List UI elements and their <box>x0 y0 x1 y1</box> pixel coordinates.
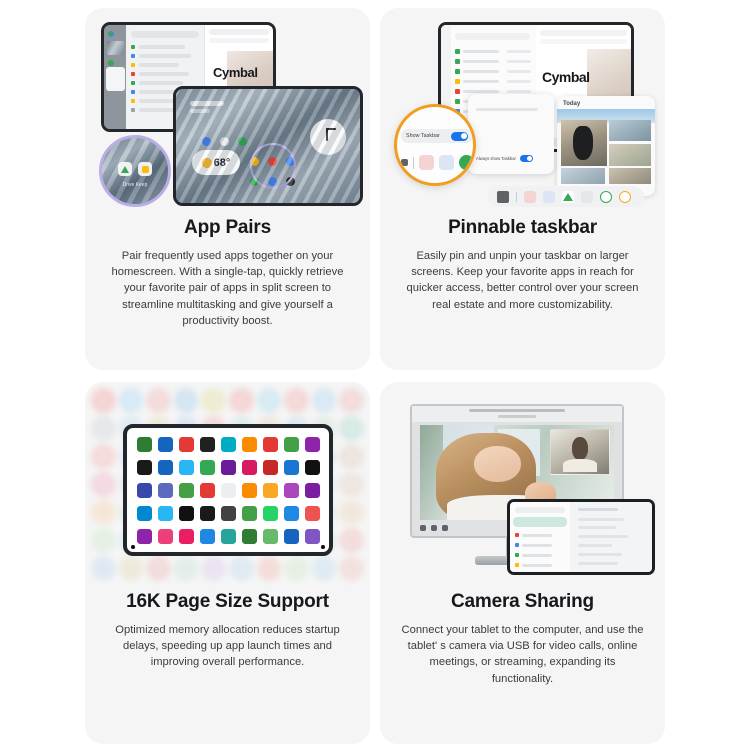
page-size-text: 16K Page Size Support Optimized memory a… <box>85 587 370 681</box>
clock-widget-line <box>190 101 224 106</box>
camera-icon[interactable] <box>431 525 437 531</box>
app-pair-label: Drive Keep <box>102 182 168 188</box>
blurred-app-icon <box>312 388 337 413</box>
app-icon[interactable] <box>137 506 152 521</box>
app-pairs-text: App Pairs Pair frequently used apps toge… <box>85 213 370 339</box>
blurred-app-icon <box>146 388 171 413</box>
photo-dog <box>561 120 607 166</box>
blurred-app-icon <box>146 556 171 581</box>
app-icon[interactable] <box>305 437 320 452</box>
app-icon[interactable] <box>137 483 152 498</box>
feature-card-camera-sharing[interactable]: Camera Sharing Connect your tablet to th… <box>380 382 665 744</box>
app-icon[interactable] <box>284 437 299 452</box>
photo-thumbnail <box>561 168 605 184</box>
app-icon[interactable] <box>179 437 194 452</box>
app-icon[interactable] <box>200 529 215 544</box>
photo-thumbnail <box>609 144 651 166</box>
blurred-app-icon <box>339 556 364 581</box>
feature-card-pinnable-taskbar[interactable]: Cymbal Today Always show Taskb <box>380 8 665 370</box>
app-icon[interactable] <box>242 506 257 521</box>
app-icon[interactable] <box>284 529 299 544</box>
window-titlebar <box>412 406 622 422</box>
tablet-settings <box>507 499 655 575</box>
blurred-app-icon <box>201 556 226 581</box>
document-brand-name: Cymbal <box>542 69 590 85</box>
app-icon[interactable] <box>250 177 259 186</box>
app-icon[interactable] <box>238 137 247 146</box>
app-icon[interactable] <box>543 191 555 203</box>
app-icon[interactable] <box>221 506 236 521</box>
pinned-taskbar[interactable] <box>488 186 644 207</box>
card-body: Optimized memory allocation reduces star… <box>103 622 352 671</box>
app-icon[interactable] <box>305 529 320 544</box>
blurred-app-icon <box>201 388 226 413</box>
all-apps-icon[interactable] <box>497 191 509 203</box>
blurred-app-icon <box>339 416 364 441</box>
camera-icon <box>321 545 325 549</box>
blurred-app-icon <box>229 388 254 413</box>
drive-icon <box>118 162 132 176</box>
weather-temperature: 68° <box>214 157 231 169</box>
photo-thumbnail <box>609 120 651 141</box>
blurred-app-icon <box>91 556 116 581</box>
app-pairs-illustration: Cymbal <box>85 8 370 213</box>
card-title: 16K Page Size Support <box>103 591 352 613</box>
keep-icon <box>138 162 152 176</box>
app-icon[interactable] <box>524 191 536 203</box>
app-icon[interactable] <box>419 155 434 170</box>
app-icon[interactable] <box>202 137 211 146</box>
app-icon[interactable] <box>179 483 194 498</box>
sheet-question-text <box>476 108 538 111</box>
page-size-illustration <box>85 382 370 587</box>
card-title: Pinnable taskbar <box>398 217 647 239</box>
blurred-app-icon <box>91 528 116 553</box>
app-icon[interactable] <box>242 483 257 498</box>
search-bar[interactable] <box>455 33 530 40</box>
app-icon[interactable] <box>137 460 152 475</box>
app-icon[interactable] <box>200 506 215 521</box>
show-taskbar-row[interactable]: Show Taskbar <box>401 129 473 143</box>
app-icon[interactable] <box>200 437 215 452</box>
document-brand-name: Cymbal <box>213 65 258 80</box>
app-icon[interactable] <box>200 483 215 498</box>
taskbar-settings-sheet: Always show Taskbar <box>468 94 554 174</box>
weather-widget[interactable]: 68° <box>192 150 240 175</box>
feature-card-grid: Cymbal <box>85 8 665 744</box>
maps-icon[interactable] <box>600 191 612 203</box>
blurred-app-icon <box>312 556 337 581</box>
blurred-app-icon <box>174 556 199 581</box>
photo-thumbnail <box>609 168 651 184</box>
app-icon[interactable] <box>268 157 277 166</box>
participant-face <box>474 446 521 482</box>
blurred-app-icon <box>284 556 309 581</box>
app-icon[interactable] <box>263 437 278 452</box>
blurred-app-icon <box>339 500 364 525</box>
drive-icon <box>108 31 114 37</box>
app-icon[interactable] <box>179 529 194 544</box>
app-icon[interactable] <box>179 506 194 521</box>
app-icon[interactable] <box>220 137 229 146</box>
search-bar <box>131 31 199 38</box>
app-icon[interactable] <box>284 483 299 498</box>
app-icon[interactable] <box>179 460 194 475</box>
always-show-taskbar-label: Always show Taskbar <box>476 156 516 161</box>
camera-sharing-text: Camera Sharing Connect your tablet to th… <box>380 587 665 697</box>
app-icon[interactable] <box>242 529 257 544</box>
app-icon[interactable] <box>263 506 278 521</box>
app-icon[interactable] <box>242 437 257 452</box>
blurred-app-icon <box>91 416 116 441</box>
card-body: Pair frequently used apps together on yo… <box>103 248 352 329</box>
blurred-app-icon <box>91 444 116 469</box>
app-icon[interactable] <box>439 155 454 170</box>
app-icon[interactable] <box>158 460 173 475</box>
blurred-app-icon <box>284 388 309 413</box>
blurred-app-icon <box>91 388 116 413</box>
more-icon[interactable] <box>442 525 448 531</box>
blurred-app-icon <box>339 528 364 553</box>
app-icon[interactable] <box>221 483 236 498</box>
card-title: Camera Sharing <box>398 591 647 613</box>
app-pair-magnifier: Drive Keep <box>99 135 171 207</box>
blurred-app-icon <box>91 472 116 497</box>
analog-clock-widget <box>310 119 346 155</box>
settings-detail-pane <box>570 502 652 572</box>
app-icon[interactable] <box>268 177 277 186</box>
camera-icon <box>131 545 135 549</box>
camera-sharing-illustration <box>380 382 665 587</box>
app-icon[interactable] <box>305 483 320 498</box>
blurred-app-icon <box>119 388 144 413</box>
show-taskbar-toggle[interactable] <box>451 132 468 141</box>
selected-setting-row[interactable] <box>513 517 567 527</box>
app-icon[interactable] <box>263 529 278 544</box>
all-apps-icon[interactable] <box>401 159 408 166</box>
pinnable-taskbar-text: Pinnable taskbar Easily pin and unpin yo… <box>380 213 665 323</box>
sun-icon <box>202 158 212 168</box>
divider <box>516 192 517 202</box>
app-icon[interactable] <box>158 437 173 452</box>
divider <box>413 157 414 169</box>
app-icon[interactable] <box>263 460 278 475</box>
blurred-app-icon <box>257 556 282 581</box>
feature-card-app-pairs[interactable]: Cymbal <box>85 8 370 370</box>
card-body: Easily pin and unpin your taskbar on lar… <box>398 248 647 313</box>
tablet-home-screen: 68° <box>173 86 363 206</box>
app-icon[interactable] <box>250 157 259 166</box>
search-bar[interactable] <box>515 507 565 513</box>
feature-grid-page: Cymbal <box>0 0 750 750</box>
blurred-app-icon <box>229 556 254 581</box>
photos-header: Today <box>563 101 580 107</box>
always-show-taskbar-row[interactable]: Always show Taskbar <box>476 155 533 162</box>
drive-icon[interactable] <box>562 191 574 203</box>
tablet-app-drawer <box>123 424 333 556</box>
blurred-app-icon <box>339 444 364 469</box>
app-icon[interactable] <box>263 483 278 498</box>
app-icon[interactable] <box>581 191 593 203</box>
app-icon[interactable] <box>158 529 173 544</box>
app-icon[interactable] <box>284 460 299 475</box>
app-icon[interactable] <box>242 460 257 475</box>
blurred-app-icon <box>339 472 364 497</box>
always-show-taskbar-toggle[interactable] <box>520 155 533 162</box>
settings-list-pane <box>510 502 571 572</box>
app-icon[interactable] <box>158 483 173 498</box>
blurred-app-icon <box>91 500 116 525</box>
app-icon[interactable] <box>305 506 320 521</box>
app-icon[interactable] <box>305 460 320 475</box>
app-icon[interactable] <box>221 460 236 475</box>
app-icon[interactable] <box>137 437 152 452</box>
app-icon[interactable] <box>221 437 236 452</box>
blurred-app-icon <box>119 556 144 581</box>
app-icon[interactable] <box>158 506 173 521</box>
app-icon[interactable] <box>284 506 299 521</box>
photo-thumbnail <box>107 41 124 55</box>
doc-thumbnail <box>106 67 125 91</box>
blurred-app-icon <box>339 388 364 413</box>
clock-widget-sub <box>190 109 210 113</box>
photos-panel: Today <box>557 96 655 196</box>
picture-in-picture-feed[interactable] <box>550 429 610 475</box>
blurred-app-icon <box>174 388 199 413</box>
feature-card-page-size-support[interactable]: 16K Page Size Support Optimized memory a… <box>85 382 370 744</box>
pinnable-taskbar-illustration: Cymbal Today Always show Taskb <box>380 8 665 213</box>
home-icon[interactable] <box>619 191 631 203</box>
show-taskbar-label: Show Taskbar <box>406 133 440 139</box>
show-taskbar-magnifier: Show Taskbar <box>394 104 476 186</box>
app-icon[interactable] <box>200 460 215 475</box>
app-icon-grid[interactable] <box>127 428 329 552</box>
recents-strip <box>104 25 126 129</box>
microphone-icon[interactable] <box>420 525 426 531</box>
card-body: Connect your tablet to the computer, and… <box>398 622 647 687</box>
app-icon[interactable] <box>286 157 295 166</box>
blurred-app-icon <box>257 388 282 413</box>
card-title: App Pairs <box>103 217 352 239</box>
app-icon[interactable] <box>221 529 236 544</box>
app-icon[interactable] <box>137 529 152 544</box>
app-icon[interactable] <box>459 155 474 170</box>
sheets-icon <box>108 60 114 66</box>
app-pair-highlight-ring <box>250 143 296 189</box>
app-icon[interactable] <box>286 177 295 186</box>
